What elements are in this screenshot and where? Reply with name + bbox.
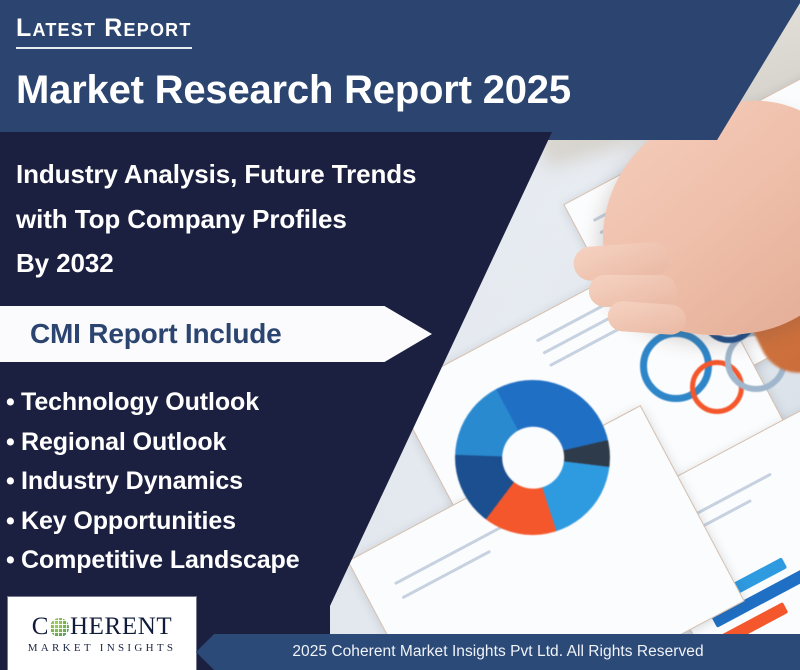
subheadline-line-2: with Top Company Profiles	[16, 197, 416, 242]
footer-bar: 2025 Coherent Market Insights Pvt Ltd. A…	[196, 634, 800, 670]
list-item: •Technology Outlook	[6, 383, 300, 423]
subheadline: Industry Analysis, Future Trends with To…	[16, 152, 416, 286]
list-item-label: Industry Dynamics	[21, 467, 243, 495]
bullet-icon: •	[6, 541, 21, 581]
page-title: Market Research Report 2025	[16, 68, 571, 113]
list-item-label: Technology Outlook	[21, 388, 259, 416]
copyright-text: 2025 Coherent Market Insights Pvt Ltd. A…	[292, 643, 703, 661]
list-item: •Competitive Landscape	[6, 541, 300, 581]
list-item-label: Competitive Landscape	[21, 546, 300, 574]
market-report-banner: Latest Report Market Research Report 202…	[0, 0, 800, 670]
logo-wordmark: C HERENT	[32, 614, 172, 639]
list-item-label: Regional Outlook	[21, 428, 226, 456]
bullet-icon: •	[6, 462, 21, 502]
list-item-label: Key Opportunities	[21, 507, 236, 535]
company-logo: C HERENT MARKET INSIGHTS	[8, 597, 196, 670]
subheadline-line-3: By 2032	[16, 241, 416, 286]
bullet-icon: •	[6, 383, 21, 423]
bullet-icon: •	[6, 423, 21, 463]
list-item: •Industry Dynamics	[6, 462, 300, 502]
logo-word-right: HERENT	[70, 614, 172, 639]
logo-word-left: C	[32, 614, 49, 639]
eyebrow-label: Latest Report	[16, 15, 192, 49]
list-item: •Regional Outlook	[6, 423, 300, 463]
section-banner-label: CMI Report Include	[0, 318, 282, 350]
list-item: •Key Opportunities	[6, 502, 300, 542]
bullet-icon: •	[6, 502, 21, 542]
globe-grid-icon	[50, 618, 69, 637]
report-contents-list: •Technology Outlook •Regional Outlook •I…	[6, 383, 300, 581]
subheadline-line-1: Industry Analysis, Future Trends	[16, 152, 416, 197]
logo-tagline: MARKET INSIGHTS	[28, 642, 177, 654]
section-banner: CMI Report Include	[0, 306, 432, 362]
